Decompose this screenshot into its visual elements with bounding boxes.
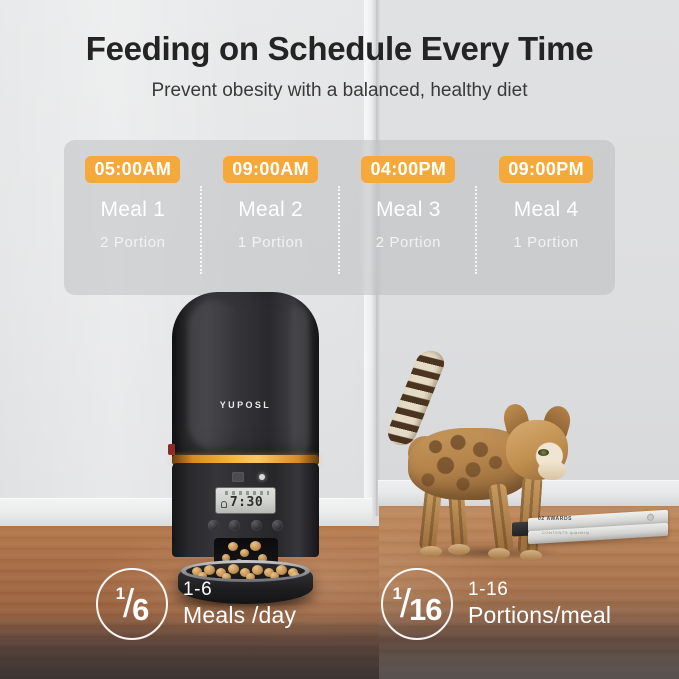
fraction-1-over-6: 1 / 6 [98, 570, 166, 638]
control-button-3[interactable] [251, 520, 262, 531]
brand-logo-text: YUPOSL [168, 400, 323, 410]
status-led-indicator [259, 474, 265, 480]
portion-label-3: 2 Portion [376, 234, 441, 251]
feature-text-1: 1-6 Meals /day [183, 579, 296, 629]
meal-label-3: Meal 3 [376, 198, 441, 222]
book-spine-title: 02 AWARDS [538, 516, 572, 522]
hopper-latch-tab [168, 444, 175, 455]
cat-paw-2 [448, 544, 470, 555]
fraction-denominator-1: 6 [132, 592, 148, 628]
control-button-row[interactable] [208, 520, 283, 531]
feature-text-2: 1-16 Portions/meal [468, 579, 611, 629]
meal-label-1: Meal 1 [100, 198, 165, 222]
cat-paw-4 [520, 550, 542, 561]
fraction-circle-icon-1: 1 / 6 [96, 568, 168, 640]
time-badge-1: 05:00AM [85, 156, 180, 183]
feature-range-2: 1-16 [468, 579, 611, 600]
meal-label-4: Meal 4 [514, 198, 579, 222]
meal-label-2: Meal 2 [238, 198, 303, 222]
feature-unit-1: Meals /day [183, 603, 296, 629]
time-badge-3: 04:00PM [361, 156, 455, 183]
fraction-denominator-2: 16 [409, 592, 441, 628]
time-badge-4: 09:00PM [499, 156, 593, 183]
lcd-time-readout: 7:30 [216, 495, 276, 510]
feature-meals-per-day: 1 / 6 1-6 Meals /day [96, 568, 296, 640]
control-button-4[interactable] [272, 520, 283, 531]
automatic-pet-feeder: YUPOSL 7:30 [168, 292, 323, 582]
fraction-1-over-16: 1 / 16 [383, 570, 451, 638]
feature-portions-per-meal: 1 / 16 1-16 Portions/meal [381, 568, 611, 640]
book-cover-dot [647, 514, 654, 521]
cat-muzzle [538, 460, 566, 480]
hopper-highlight-left [188, 300, 242, 450]
schedule-columns: 05:00AM Meal 1 2 Portion 09:00AM Meal 2 … [64, 140, 615, 295]
portion-label-1: 2 Portion [100, 234, 165, 251]
schedule-column-4: 09:00PM Meal 4 1 Portion [477, 140, 615, 295]
cat-paw-1 [420, 546, 442, 557]
time-badge-2: 09:00AM [223, 156, 318, 183]
feeding-schedule-card: 05:00AM Meal 1 2 Portion 09:00AM Meal 2 … [64, 140, 615, 295]
feeder-food-hopper [172, 292, 319, 467]
page-subheadline: Prevent obesity with a balanced, healthy… [0, 80, 679, 102]
infrared-sensor-icon [232, 472, 244, 482]
control-button-2[interactable] [229, 520, 240, 531]
schedule-column-1: 05:00AM Meal 1 2 Portion [64, 140, 202, 295]
books-on-floor: 02 AWARDS CONTENTS quarterly [528, 514, 670, 548]
cat-eye [538, 449, 549, 456]
portion-label-4: 1 Portion [513, 234, 578, 251]
schedule-column-2: 09:00AM Meal 2 1 Portion [202, 140, 340, 295]
book-spine-subtitle: CONTENTS quarterly [542, 530, 590, 535]
feature-range-1: 1-6 [183, 579, 296, 600]
product-marketing-image: Feeding on Schedule Every Time Prevent o… [0, 0, 679, 679]
portion-label-2: 1 Portion [238, 234, 303, 251]
cat-paw-3 [488, 548, 510, 559]
hopper-highlight-right [287, 306, 309, 456]
page-headline: Feeding on Schedule Every Time [0, 30, 679, 68]
schedule-column-3: 04:00PM Meal 3 2 Portion [340, 140, 478, 295]
control-button-1[interactable] [208, 520, 219, 531]
lcd-display-panel: 7:30 [215, 487, 276, 514]
feature-unit-2: Portions/meal [468, 603, 611, 629]
fraction-circle-icon-2: 1 / 16 [381, 568, 453, 640]
